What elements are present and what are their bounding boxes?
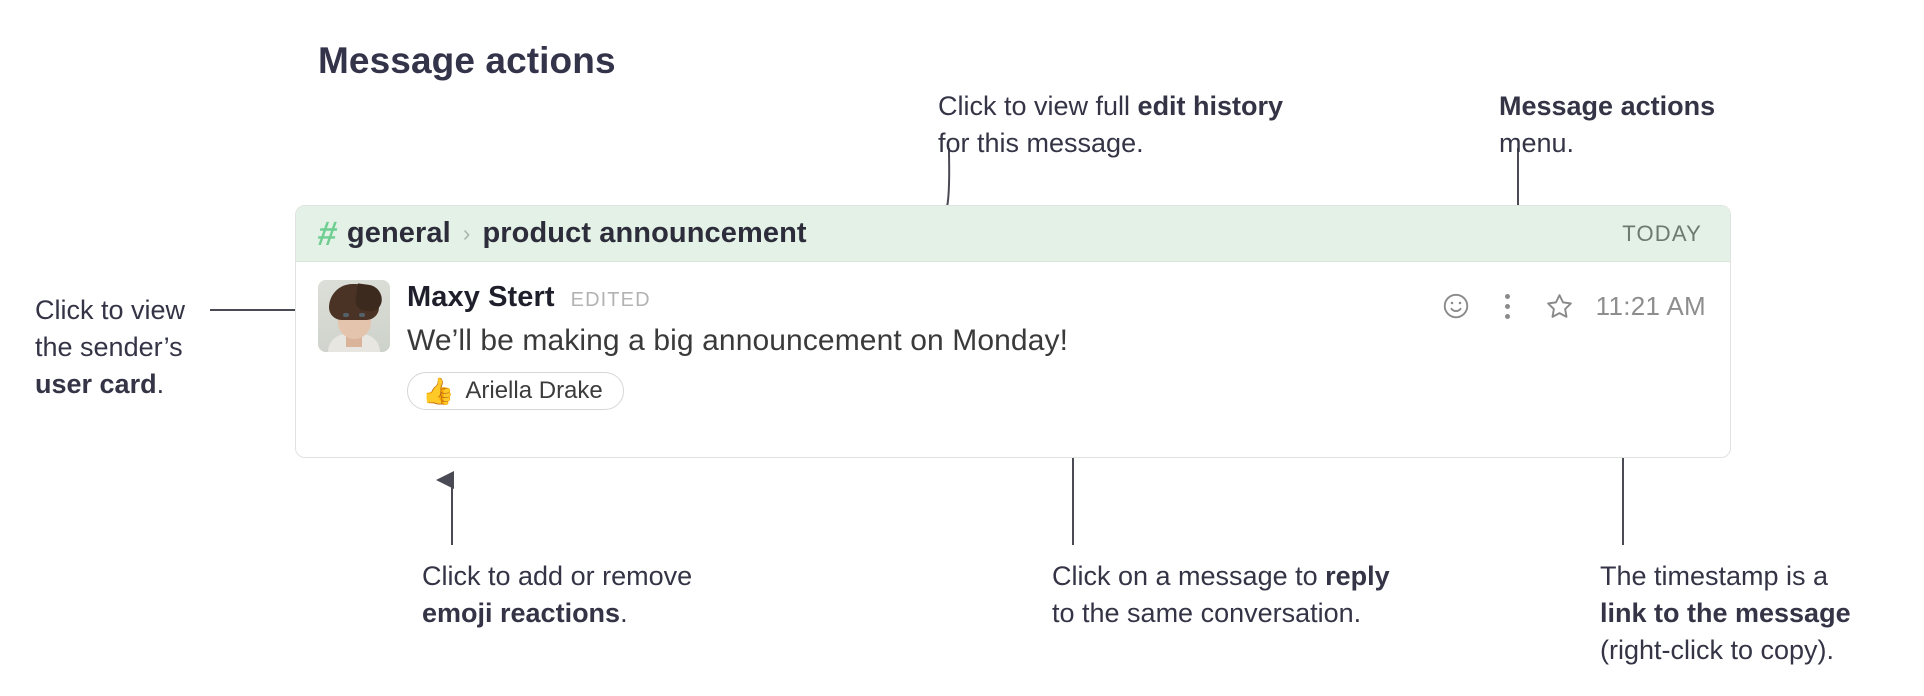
annotation-emoji-reactions: Click to add or remove emoji reactions. <box>422 558 692 632</box>
annotation-reply: Click on a message to reply to the same … <box>1052 558 1390 632</box>
annotation-user-card-line1: Click to view <box>35 292 185 329</box>
chevron-right-icon: › <box>463 220 471 247</box>
annotation-user-card-tail: . <box>157 369 165 399</box>
emoji-reaction-icon[interactable] <box>1430 284 1482 328</box>
annotation-edit-history-bold: edit history <box>1138 91 1284 121</box>
channel-name[interactable]: general <box>347 217 451 250</box>
annotation-timestamp-line3: (right-click to copy). <box>1600 632 1851 669</box>
avatar-eye-left <box>343 313 349 317</box>
vertical-dots <box>1505 294 1510 319</box>
reaction-pill[interactable]: 👍 Ariella Drake <box>407 372 624 410</box>
annotation-edit-history-line1: Click to view full <box>938 91 1138 121</box>
annotation-edit-history: Click to view full edit history for this… <box>938 88 1283 162</box>
annotation-emoji-bold: emoji reactions <box>422 598 620 628</box>
annotation-emoji-tail: . <box>620 598 628 628</box>
sender-name[interactable]: Maxy Stert <box>407 281 555 314</box>
annotation-actions-menu: Message actions menu. <box>1499 88 1715 162</box>
avatar-eye-right <box>359 313 365 317</box>
message-actions-menu-icon[interactable] <box>1482 284 1534 328</box>
message-card: # general › product announcement TODAY M… <box>295 205 1731 458</box>
annotation-timestamp-bold: link to the message <box>1600 598 1851 628</box>
star-message-icon[interactable] <box>1534 284 1586 328</box>
topic-name[interactable]: product announcement <box>482 217 806 250</box>
annotation-reply-line2: to the same conversation. <box>1052 595 1390 632</box>
message-row[interactable]: Maxy Stert EDITED We’ll be making a big … <box>296 262 1730 410</box>
edited-label[interactable]: EDITED <box>571 289 651 312</box>
annotation-actions-menu-line2: menu. <box>1499 125 1715 162</box>
annotation-timestamp-line1: The timestamp is a <box>1600 558 1851 595</box>
annotation-user-card-line2: the sender’s <box>35 329 185 366</box>
annotation-reply-line1: Click on a message to <box>1052 561 1325 591</box>
annotation-edit-history-line2: for this message. <box>938 125 1283 162</box>
page-title: Message actions <box>318 40 616 82</box>
annotation-emoji-line1: Click to add or remove <box>422 558 692 595</box>
annotation-user-card-bold: user card <box>35 369 157 399</box>
message-timestamp[interactable]: 11:21 AM <box>1596 291 1706 322</box>
hash-icon: # <box>316 217 340 251</box>
thumbs-up-icon: 👍 <box>422 378 454 404</box>
avatar[interactable] <box>318 280 390 352</box>
channel-header: # general › product announcement TODAY <box>296 206 1730 262</box>
annotation-reply-bold: reply <box>1325 561 1390 591</box>
annotation-actions-menu-bold: Message actions <box>1499 91 1715 121</box>
reaction-label: Ariella Drake <box>465 377 602 405</box>
annotation-timestamp-link: The timestamp is a link to the message (… <box>1600 558 1851 669</box>
reactions-list: 👍 Ariella Drake <box>407 372 1702 410</box>
message-body[interactable]: We’ll be making a big announcement on Mo… <box>407 324 1702 358</box>
date-label: TODAY <box>1622 221 1702 247</box>
annotation-user-card: Click to view the sender’s user card. <box>35 292 185 403</box>
message-actions-bar: 11:21 AM <box>1430 284 1706 328</box>
